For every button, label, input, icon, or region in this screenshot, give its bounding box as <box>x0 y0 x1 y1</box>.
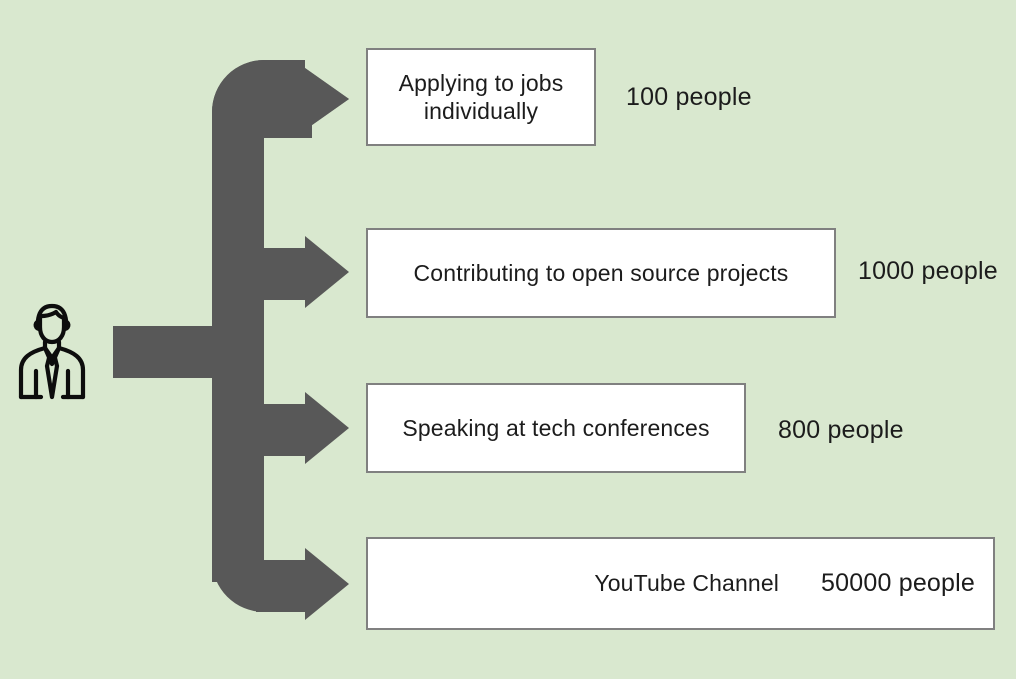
arrow-branch-2 <box>257 236 349 308</box>
count-label-4: 50000 people <box>821 569 975 598</box>
arrow-branch-4-shaft <box>256 560 312 612</box>
node-label-3: Speaking at tech conferences <box>402 414 709 442</box>
node-box-4-content: YouTube Channel 50000 people <box>594 569 975 598</box>
count-label-2: 1000 people <box>858 256 998 286</box>
diagram-canvas: Applying to jobs individually 100 people… <box>0 0 1016 679</box>
node-box-3[interactable]: Speaking at tech conferences <box>366 383 746 473</box>
node-box-4[interactable]: YouTube Channel 50000 people <box>366 537 995 630</box>
arrow-branch-1-shaft <box>264 86 312 138</box>
arrow-stem <box>113 326 240 378</box>
arrow-branch-2-shaft <box>256 248 312 300</box>
node-label-2: Contributing to open source projects <box>414 259 789 287</box>
arrow-trunk <box>212 112 264 582</box>
businessman-person-icon <box>12 292 92 404</box>
node-box-1[interactable]: Applying to jobs individually <box>366 48 596 146</box>
arrow-branch-4 <box>212 530 349 620</box>
arrow-branch-1 <box>212 60 349 164</box>
node-label-4: YouTube Channel <box>594 569 779 597</box>
node-box-2[interactable]: Contributing to open source projects <box>366 228 836 318</box>
node-label-1: Applying to jobs individually <box>399 69 564 125</box>
count-label-1: 100 people <box>626 82 752 112</box>
arrow-branch-3-shaft <box>256 404 312 456</box>
arrow-branch-1-elbow <box>212 60 349 138</box>
arrow-branch-3 <box>257 392 349 464</box>
count-label-3: 800 people <box>778 415 904 445</box>
